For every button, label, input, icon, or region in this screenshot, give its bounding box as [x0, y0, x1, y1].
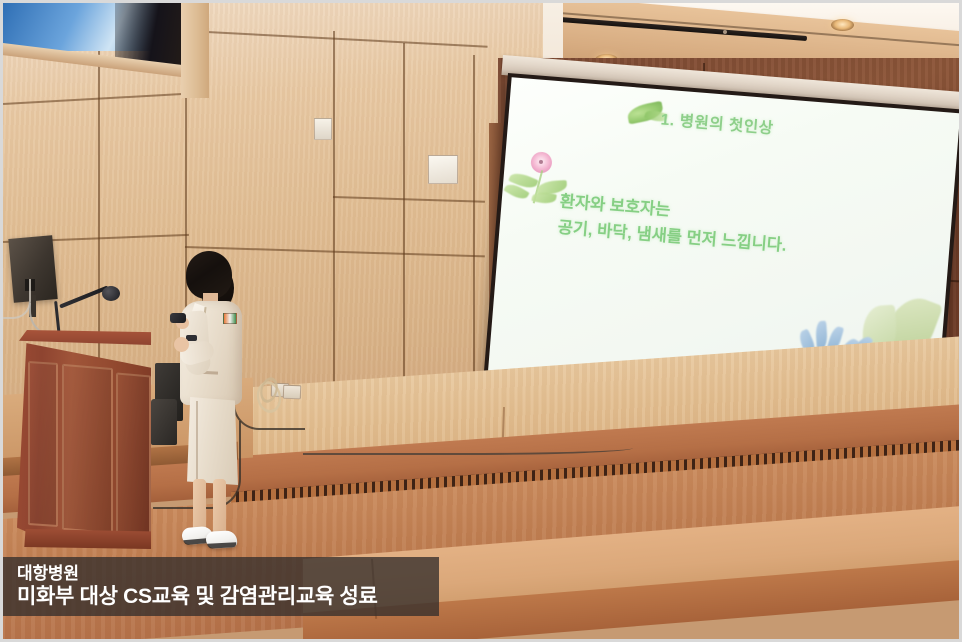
panel-seam: [473, 55, 475, 403]
wall-access-panel-icon: [428, 155, 458, 184]
podium-top-surface: [19, 330, 151, 345]
recessed-downlight-icon: [831, 19, 854, 31]
podium-base: [19, 529, 151, 549]
presentation-remote-icon: [170, 313, 186, 323]
cable-run: [303, 441, 633, 455]
panel-seam: [333, 31, 335, 403]
caption-overlay: 대항병원 미화부 대상 CS교육 및 감염관리교육 성료: [3, 557, 439, 616]
skirt-pleat: [196, 401, 198, 485]
name-badge: [223, 313, 237, 324]
leg: [213, 479, 226, 534]
panel-seam: [403, 43, 405, 403]
microphone-head-icon: [102, 286, 120, 301]
sprinkler-head-icon: [723, 30, 727, 34]
caption-line-2: 미화부 대상 CS교육 및 감염관리교육 성료: [17, 584, 439, 609]
skirt: [186, 397, 238, 485]
screenshot-frame: 1. 병원의 첫인상 환자와 보호자는 공기, 바닥, 냄새를 먼저 느낍니다.: [0, 0, 962, 642]
hair: [186, 251, 232, 299]
wooden-podium: [17, 330, 151, 552]
presenter: [166, 251, 258, 551]
slide-body: 환자와 보호자는 공기, 바닥, 냄새를 먼저 느낍니다.: [557, 190, 790, 259]
podium-panel: [28, 361, 58, 527]
sneaker: [206, 530, 238, 549]
slide-title: 1. 병원의 첫인상: [660, 107, 775, 138]
wall-pilaster: [181, 3, 209, 98]
caption-line-1: 대항병원: [17, 564, 439, 584]
slide-body-line1: 환자와 보호자는: [559, 193, 671, 220]
lecture-hall-photo: 1. 병원의 첫인상 환자와 보호자는 공기, 바닥, 냄새를 먼저 느낍니다.: [3, 3, 959, 639]
podium-panel: [62, 364, 113, 534]
slide-body-line2: 공기, 바닥, 냄새를 먼저 느낍니다.: [557, 215, 788, 259]
podium-panel: [116, 372, 151, 539]
hand: [174, 337, 189, 352]
wall-speaker-plate-icon: [314, 118, 332, 140]
